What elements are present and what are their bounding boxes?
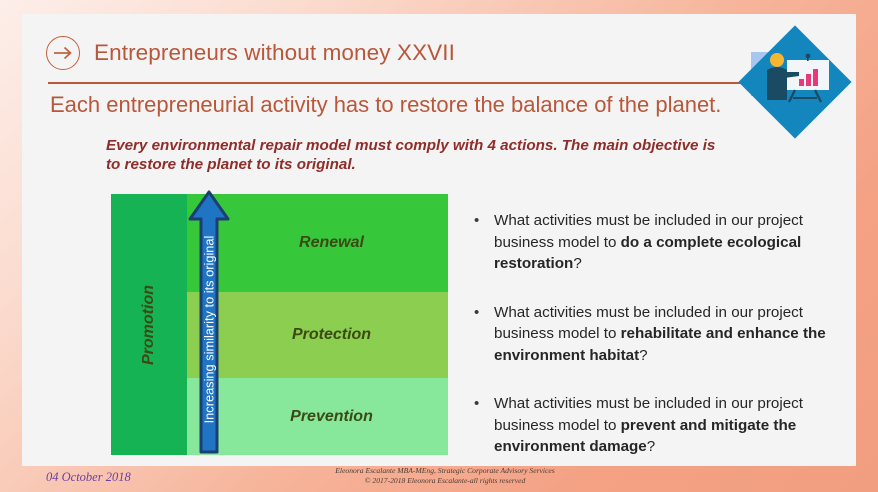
presenter-chart-diamond-logo xyxy=(737,22,853,140)
footer-credit: Eleonora Escalante MBA-MEng, Strategic C… xyxy=(300,466,590,486)
bullet-marker: • xyxy=(474,210,494,275)
bullet-text: What activities must be included in our … xyxy=(494,393,849,458)
slide-subheading: Every environmental repair model must co… xyxy=(106,136,716,174)
page-title: Each entrepreneurial activity has to res… xyxy=(50,92,790,118)
questions-bullet-list: • What activities must be included in ou… xyxy=(474,210,849,485)
promotion-axis-label: Promotion xyxy=(140,285,158,365)
bullet-tail: ? xyxy=(639,347,647,364)
bullet-text: What activities must be included in our … xyxy=(494,302,849,367)
slide-frame: Entrepreneurs without money XXVII Each e… xyxy=(0,0,878,492)
header-title: Entrepreneurs without money XXVII xyxy=(94,40,455,66)
list-item: • What activities must be included in ou… xyxy=(474,302,849,367)
list-item: • What activities must be included in ou… xyxy=(474,210,849,275)
list-item: • What activities must be included in ou… xyxy=(474,393,849,458)
bullet-marker: • xyxy=(474,393,494,458)
footer-credit-line-2: © 2017-2018 Eleonora Escalante-all right… xyxy=(300,476,590,486)
footer-credit-line-1: Eleonora Escalante MBA-MEng, Strategic C… xyxy=(300,466,590,476)
promotion-axis-column: Promotion xyxy=(111,194,187,455)
slide-canvas: Entrepreneurs without money XXVII Each e… xyxy=(22,14,856,466)
stage-label-renewal: Renewal xyxy=(299,234,364,252)
stage-label-protection: Protection xyxy=(292,326,371,344)
bullet-text: What activities must be included in our … xyxy=(494,210,849,275)
restoration-stages-diagram: Promotion Renewal Protection Prevention … xyxy=(111,194,448,455)
bullet-marker: • xyxy=(474,302,494,367)
arrow-right-circle-icon xyxy=(46,36,80,70)
slide-header: Entrepreneurs without money XXVII xyxy=(46,30,746,76)
footer-date: 04 October 2018 xyxy=(46,470,131,485)
bullet-tail: ? xyxy=(647,438,655,455)
header-divider xyxy=(48,82,746,84)
bullet-tail: ? xyxy=(573,255,581,272)
stage-label-prevention: Prevention xyxy=(290,408,373,426)
increasing-similarity-arrow-icon: Increasing similarity to its original xyxy=(186,189,232,455)
